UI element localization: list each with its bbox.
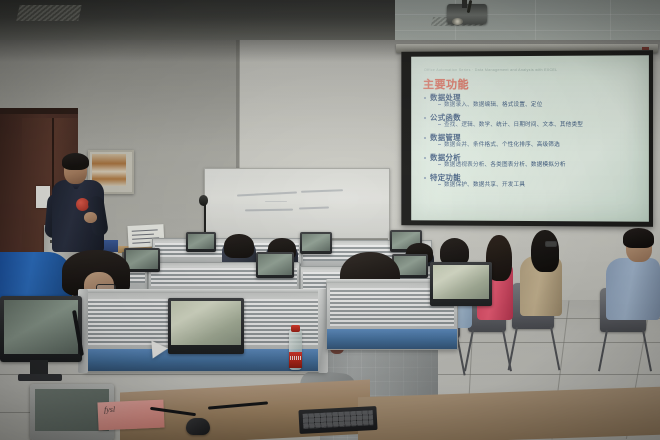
bottle-label xyxy=(289,352,302,368)
presenter-shirt-logo xyxy=(76,198,89,211)
presenter-hand xyxy=(84,212,97,223)
bottle-label-text xyxy=(290,356,301,360)
monitor-foreground-left xyxy=(0,296,82,362)
slide-title: 主要功能 xyxy=(423,76,469,92)
slide-detail-1: 查找、逻辑、数学、统计、日期时间、文本、其他类型 xyxy=(444,120,583,128)
whiteboard xyxy=(204,168,390,242)
monitor-center-lit xyxy=(168,298,244,354)
microphone-icon xyxy=(199,195,208,206)
slide-detail-2: 数据合并、条件格式、个性化排序、高级筛选 xyxy=(444,140,560,148)
attendee-4-body xyxy=(606,258,660,320)
paper-cone xyxy=(151,339,168,358)
presenter-hair xyxy=(62,153,89,170)
projector-lens-icon xyxy=(452,18,463,25)
glasses-icon xyxy=(545,241,557,247)
cabinet-top-trim xyxy=(0,108,78,114)
attendee-3-hair xyxy=(531,230,559,272)
monitor-base xyxy=(18,374,62,381)
attendee-4-hair xyxy=(623,228,654,248)
slide-detail-0: 数据录入、数据编辑、格式设置、定位 xyxy=(444,100,543,108)
monitor-right-lit xyxy=(430,262,492,306)
bottle-cap xyxy=(291,325,300,332)
student-back-1-hair xyxy=(224,234,254,258)
slide-detail-4: 数据保护、数据共享、开发工具 xyxy=(444,180,525,188)
desk-surface-right xyxy=(358,387,660,440)
monitor-back-1 xyxy=(300,232,332,254)
partition-top-rail xyxy=(84,289,326,293)
computer-mouse[interactable] xyxy=(186,418,210,435)
monitor-mid-2 xyxy=(256,252,294,278)
slide-detail-3: 数据透视表分析、各类图表分析、数据模拟分析 xyxy=(444,160,566,168)
projector-mount xyxy=(462,0,467,8)
slide-header-line: Office Automation Series · Data Manageme… xyxy=(424,68,614,72)
classroom-photo: Office Automation Series · Data Manageme… xyxy=(0,0,660,440)
monitor-back-3 xyxy=(186,232,216,252)
ceiling-vent-icon xyxy=(16,5,81,21)
